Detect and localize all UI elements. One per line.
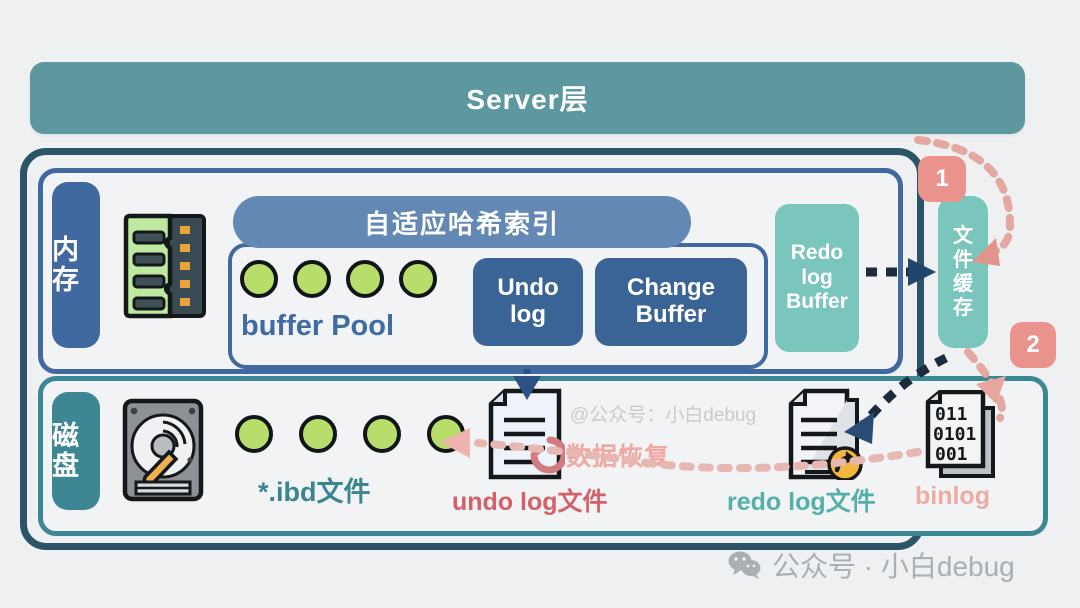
file-cache-line4: 存 <box>953 296 973 320</box>
disk-row-label: 磁盘 <box>52 392 100 510</box>
ram-stick-icon <box>122 212 210 320</box>
disk-page-circle <box>363 415 401 453</box>
bottom-watermark-label: 公众号 · 小白debug <box>772 545 1015 585</box>
change-buffer-box: Change Buffer <box>595 258 747 346</box>
bottom-watermark: 公众号 · 小白debug <box>728 545 1015 585</box>
redo-log-buffer-line3: Buffer <box>786 290 848 315</box>
undo-log-file-label: undo log文件 <box>452 482 608 518</box>
step-badge-2: 2 <box>1010 322 1056 368</box>
buffer-page-circle <box>293 260 331 298</box>
disk-data-pages <box>235 415 465 453</box>
redo-log-buffer-box: Redo log Buffer <box>775 204 859 352</box>
undo-log-box: Undo log <box>473 258 583 346</box>
wechat-icon <box>728 550 762 580</box>
redo-log-buffer-line2: log <box>801 266 833 291</box>
file-cache-line1: 文 <box>953 224 973 248</box>
file-cache-line2: 件 <box>953 248 973 272</box>
disk-page-circle <box>427 415 465 453</box>
buffer-pool-pages <box>240 260 437 298</box>
server-layer-box: Server层 <box>30 62 1025 134</box>
buffer-page-circle <box>346 260 384 298</box>
buffer-page-circle <box>399 260 437 298</box>
inline-watermark: @公众号：小白debug <box>570 400 756 427</box>
server-layer-label: Server层 <box>466 78 588 118</box>
os-file-cache-box: 文 件 缓 存 <box>938 196 988 348</box>
hard-disk-icon <box>122 398 204 502</box>
redo-log-file-label: redo log文件 <box>727 482 876 518</box>
disk-page-circle <box>235 415 273 453</box>
binlog-label: binlog <box>915 482 990 511</box>
binlog-bits-line2: 0101 <box>933 424 976 445</box>
disk-page-circle <box>299 415 337 453</box>
ibd-file-label: *.ibd文件 <box>258 470 371 509</box>
data-recovery-label: 数据恢复 <box>566 437 670 473</box>
buffer-pool-label: buffer Pool <box>241 310 394 343</box>
undo-log-label-line1: Undo <box>497 275 558 302</box>
change-buffer-label-line1: Change <box>627 275 715 302</box>
step-badge-1: 1 <box>918 156 966 202</box>
buffer-page-circle <box>240 260 278 298</box>
binlog-bits-line1: 011 <box>935 404 968 425</box>
change-buffer-label-line2: Buffer <box>636 302 707 329</box>
adaptive-hash-index-label: 自适应哈希索引 <box>364 204 560 241</box>
diagram-canvas: Server层 内存 自适应哈希索引 buffer Pool <box>0 0 1080 608</box>
memory-row-label: 内存 <box>52 182 100 348</box>
redo-log-file-icon <box>787 388 865 480</box>
binlog-bits-line3: 001 <box>935 444 968 465</box>
redo-log-buffer-line1: Redo <box>791 241 844 266</box>
undo-log-label-line2: log <box>510 302 546 329</box>
undo-log-file-icon <box>487 388 565 480</box>
file-cache-line3: 缓 <box>953 272 973 296</box>
adaptive-hash-index-box: 自适应哈希索引 <box>233 196 691 248</box>
binlog-file-icon: 011 0101 001 <box>925 390 1001 482</box>
